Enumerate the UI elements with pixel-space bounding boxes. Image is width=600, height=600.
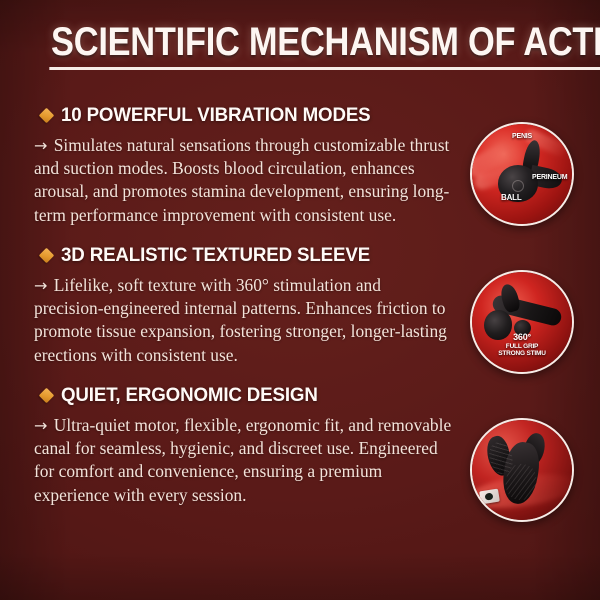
photo-caption-grip: 360° FULL GRIP STRONG STIMU bbox=[472, 332, 572, 358]
product-shape-ring bbox=[512, 180, 524, 192]
feature-body-copy: Ultra-quiet motor, flexible, ergonomic f… bbox=[34, 415, 451, 505]
product-photo-scene bbox=[472, 420, 572, 520]
product-photo-ergonomic-design bbox=[470, 418, 574, 522]
product-photo-scene: 360° FULL GRIP STRONG STIMU bbox=[472, 272, 572, 372]
feature-list: 10 POWERFUL VIBRATION MODES → Simulates … bbox=[34, 104, 454, 507]
feature-body-copy: Simulates natural sensations through cus… bbox=[34, 135, 449, 225]
diamond-bullet-icon bbox=[39, 108, 55, 124]
feature-heading-row: QUIET, ERGONOMIC DESIGN bbox=[41, 384, 454, 407]
photo-caption-perineum: PERINEUM bbox=[532, 174, 567, 182]
arrow-icon: → bbox=[34, 136, 49, 155]
feature-section-textured-sleeve: 3D REALISTIC TEXTURED SLEEVE → Lifelike,… bbox=[34, 244, 454, 367]
diamond-bullet-icon bbox=[39, 248, 55, 264]
feature-body-copy: Lifelike, soft texture with 360° stimula… bbox=[34, 275, 447, 365]
poster-title-container: SCIENTIFIC MECHANISM OF ACTION bbox=[0, 22, 600, 70]
feature-section-ergonomic-design: QUIET, ERGONOMIC DESIGN → Ultra-quiet mo… bbox=[34, 384, 454, 507]
photo-caption-penis: PENIS bbox=[512, 133, 532, 141]
feature-section-vibration-modes: 10 POWERFUL VIBRATION MODES → Simulates … bbox=[34, 104, 454, 227]
feature-body-text: → Ultra-quiet motor, flexible, ergonomic… bbox=[34, 414, 454, 507]
feature-body-text: → Lifelike, soft texture with 360° stimu… bbox=[34, 274, 454, 367]
feature-heading: 3D REALISTIC TEXTURED SLEEVE bbox=[61, 244, 370, 267]
feature-heading: QUIET, ERGONOMIC DESIGN bbox=[61, 384, 318, 407]
photo-caption-line-3: STRONG STIMU bbox=[472, 350, 572, 358]
product-photo-vibration-modes: PENIS PERINEUM BALL bbox=[470, 122, 574, 226]
feature-heading-row: 10 POWERFUL VIBRATION MODES bbox=[41, 104, 454, 127]
page-title: SCIENTIFIC MECHANISM OF ACTION bbox=[49, 22, 600, 70]
product-feature-poster: SCIENTIFIC MECHANISM OF ACTION 10 POWERF… bbox=[0, 0, 600, 600]
photo-caption-line-1: 360° bbox=[513, 332, 531, 342]
photo-caption-ball: BALL bbox=[501, 193, 522, 202]
arrow-icon: → bbox=[34, 416, 49, 435]
product-photo-scene: PENIS PERINEUM BALL bbox=[472, 124, 572, 224]
product-photo-textured-sleeve: 360° FULL GRIP STRONG STIMU bbox=[470, 270, 574, 374]
feature-body-text: → Simulates natural sensations through c… bbox=[34, 134, 454, 227]
arrow-icon: → bbox=[34, 276, 49, 295]
diamond-bullet-icon bbox=[39, 388, 55, 404]
feature-heading-row: 3D REALISTIC TEXTURED SLEEVE bbox=[41, 244, 454, 267]
feature-heading: 10 POWERFUL VIBRATION MODES bbox=[61, 104, 371, 127]
